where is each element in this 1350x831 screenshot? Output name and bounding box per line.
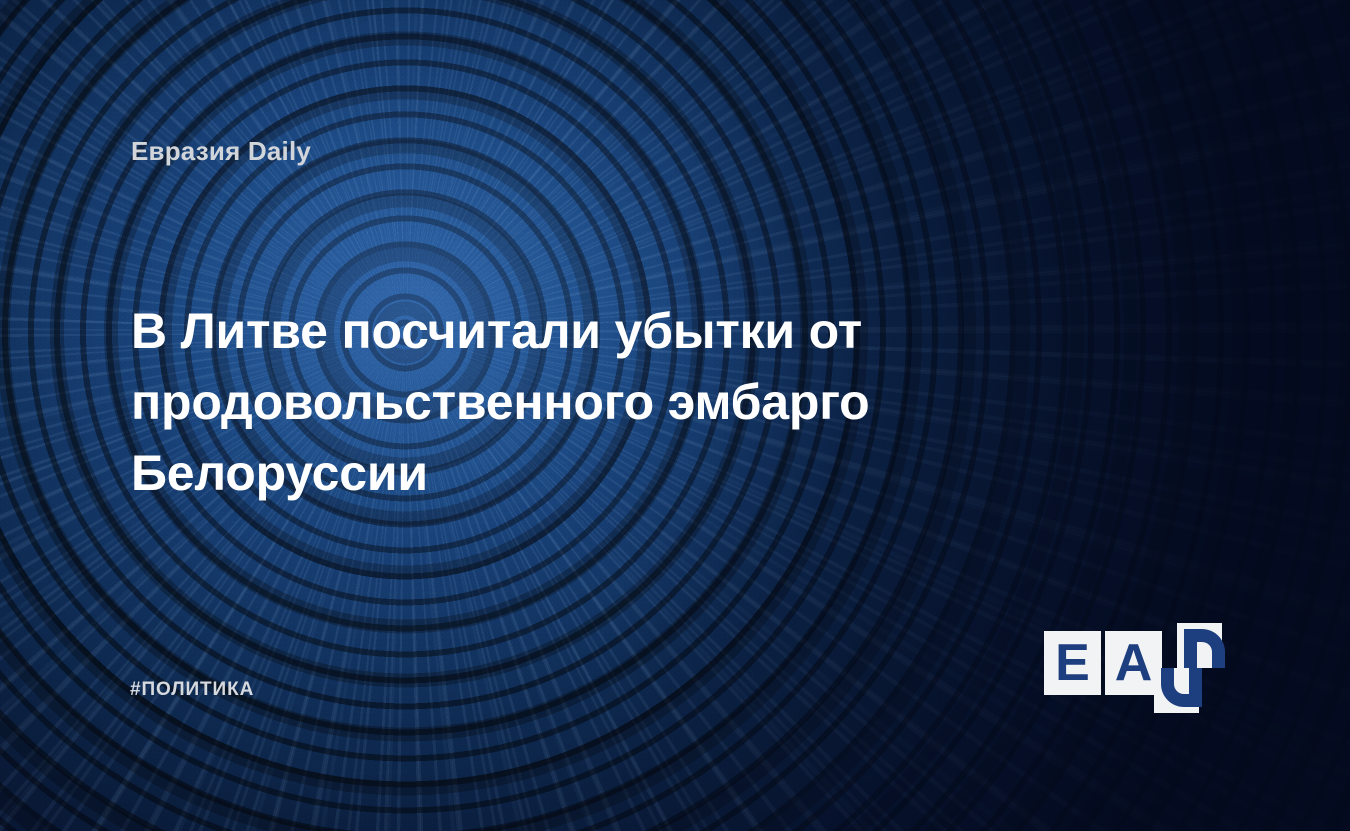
category-tag: #ПОЛИТИКА <box>130 679 254 701</box>
logo-letter-e: E <box>1044 631 1101 695</box>
ead-logo: E A <box>1044 623 1222 703</box>
page-title: В Литве посчитали убытки от продовольств… <box>131 296 1091 509</box>
brand-title: Евразия Daily <box>131 136 311 167</box>
logo-letter-d <box>1154 623 1234 713</box>
news-card: Евразия Daily В Литве посчитали убытки о… <box>0 0 1350 831</box>
card-content: Евразия Daily В Литве посчитали убытки о… <box>0 0 1350 831</box>
